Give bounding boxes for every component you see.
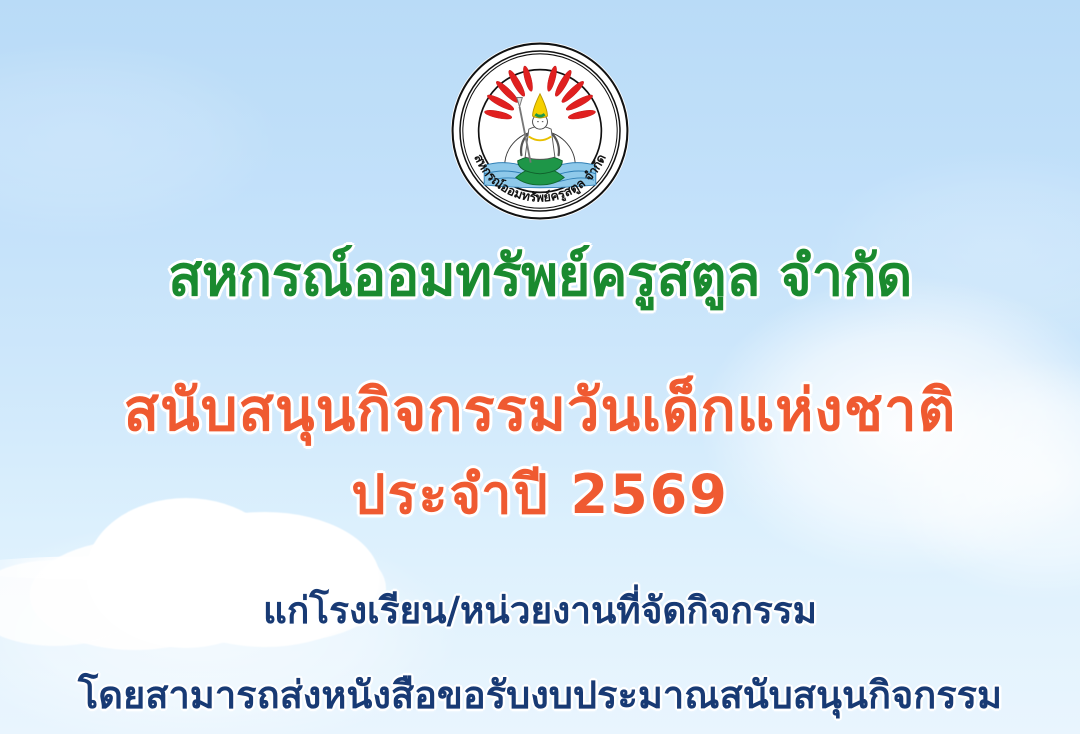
cloud-top-left-faint bbox=[0, 40, 280, 240]
cloud-wisp-left bbox=[0, 556, 260, 580]
headline-line-1: สนับสนุนกิจกรรมวันเด็กแห่งชาติ bbox=[0, 381, 1080, 440]
headline-line-2: ประจำปี 2569 bbox=[0, 467, 1080, 522]
body-line-2: โดยสามารถส่งหนังสือขอรับงบประมาณสนับสนุน… bbox=[0, 676, 1080, 715]
organization-name: สหกรณ์ออมทรัพย์ครูสตูล จำกัด bbox=[0, 248, 1080, 305]
cooperative-seal-logo: สหกรณ์ออมทรัพย์ครูสตูล จำกัด bbox=[447, 38, 633, 224]
poster-canvas: สหกรณ์ออมทรัพย์ครูสตูล จำกัด สหกรณ์ออมทร… bbox=[0, 0, 1080, 734]
body-line-1: แก่โรงเรียน/หน่วยงานที่จัดกิจกรรม bbox=[0, 592, 1080, 630]
